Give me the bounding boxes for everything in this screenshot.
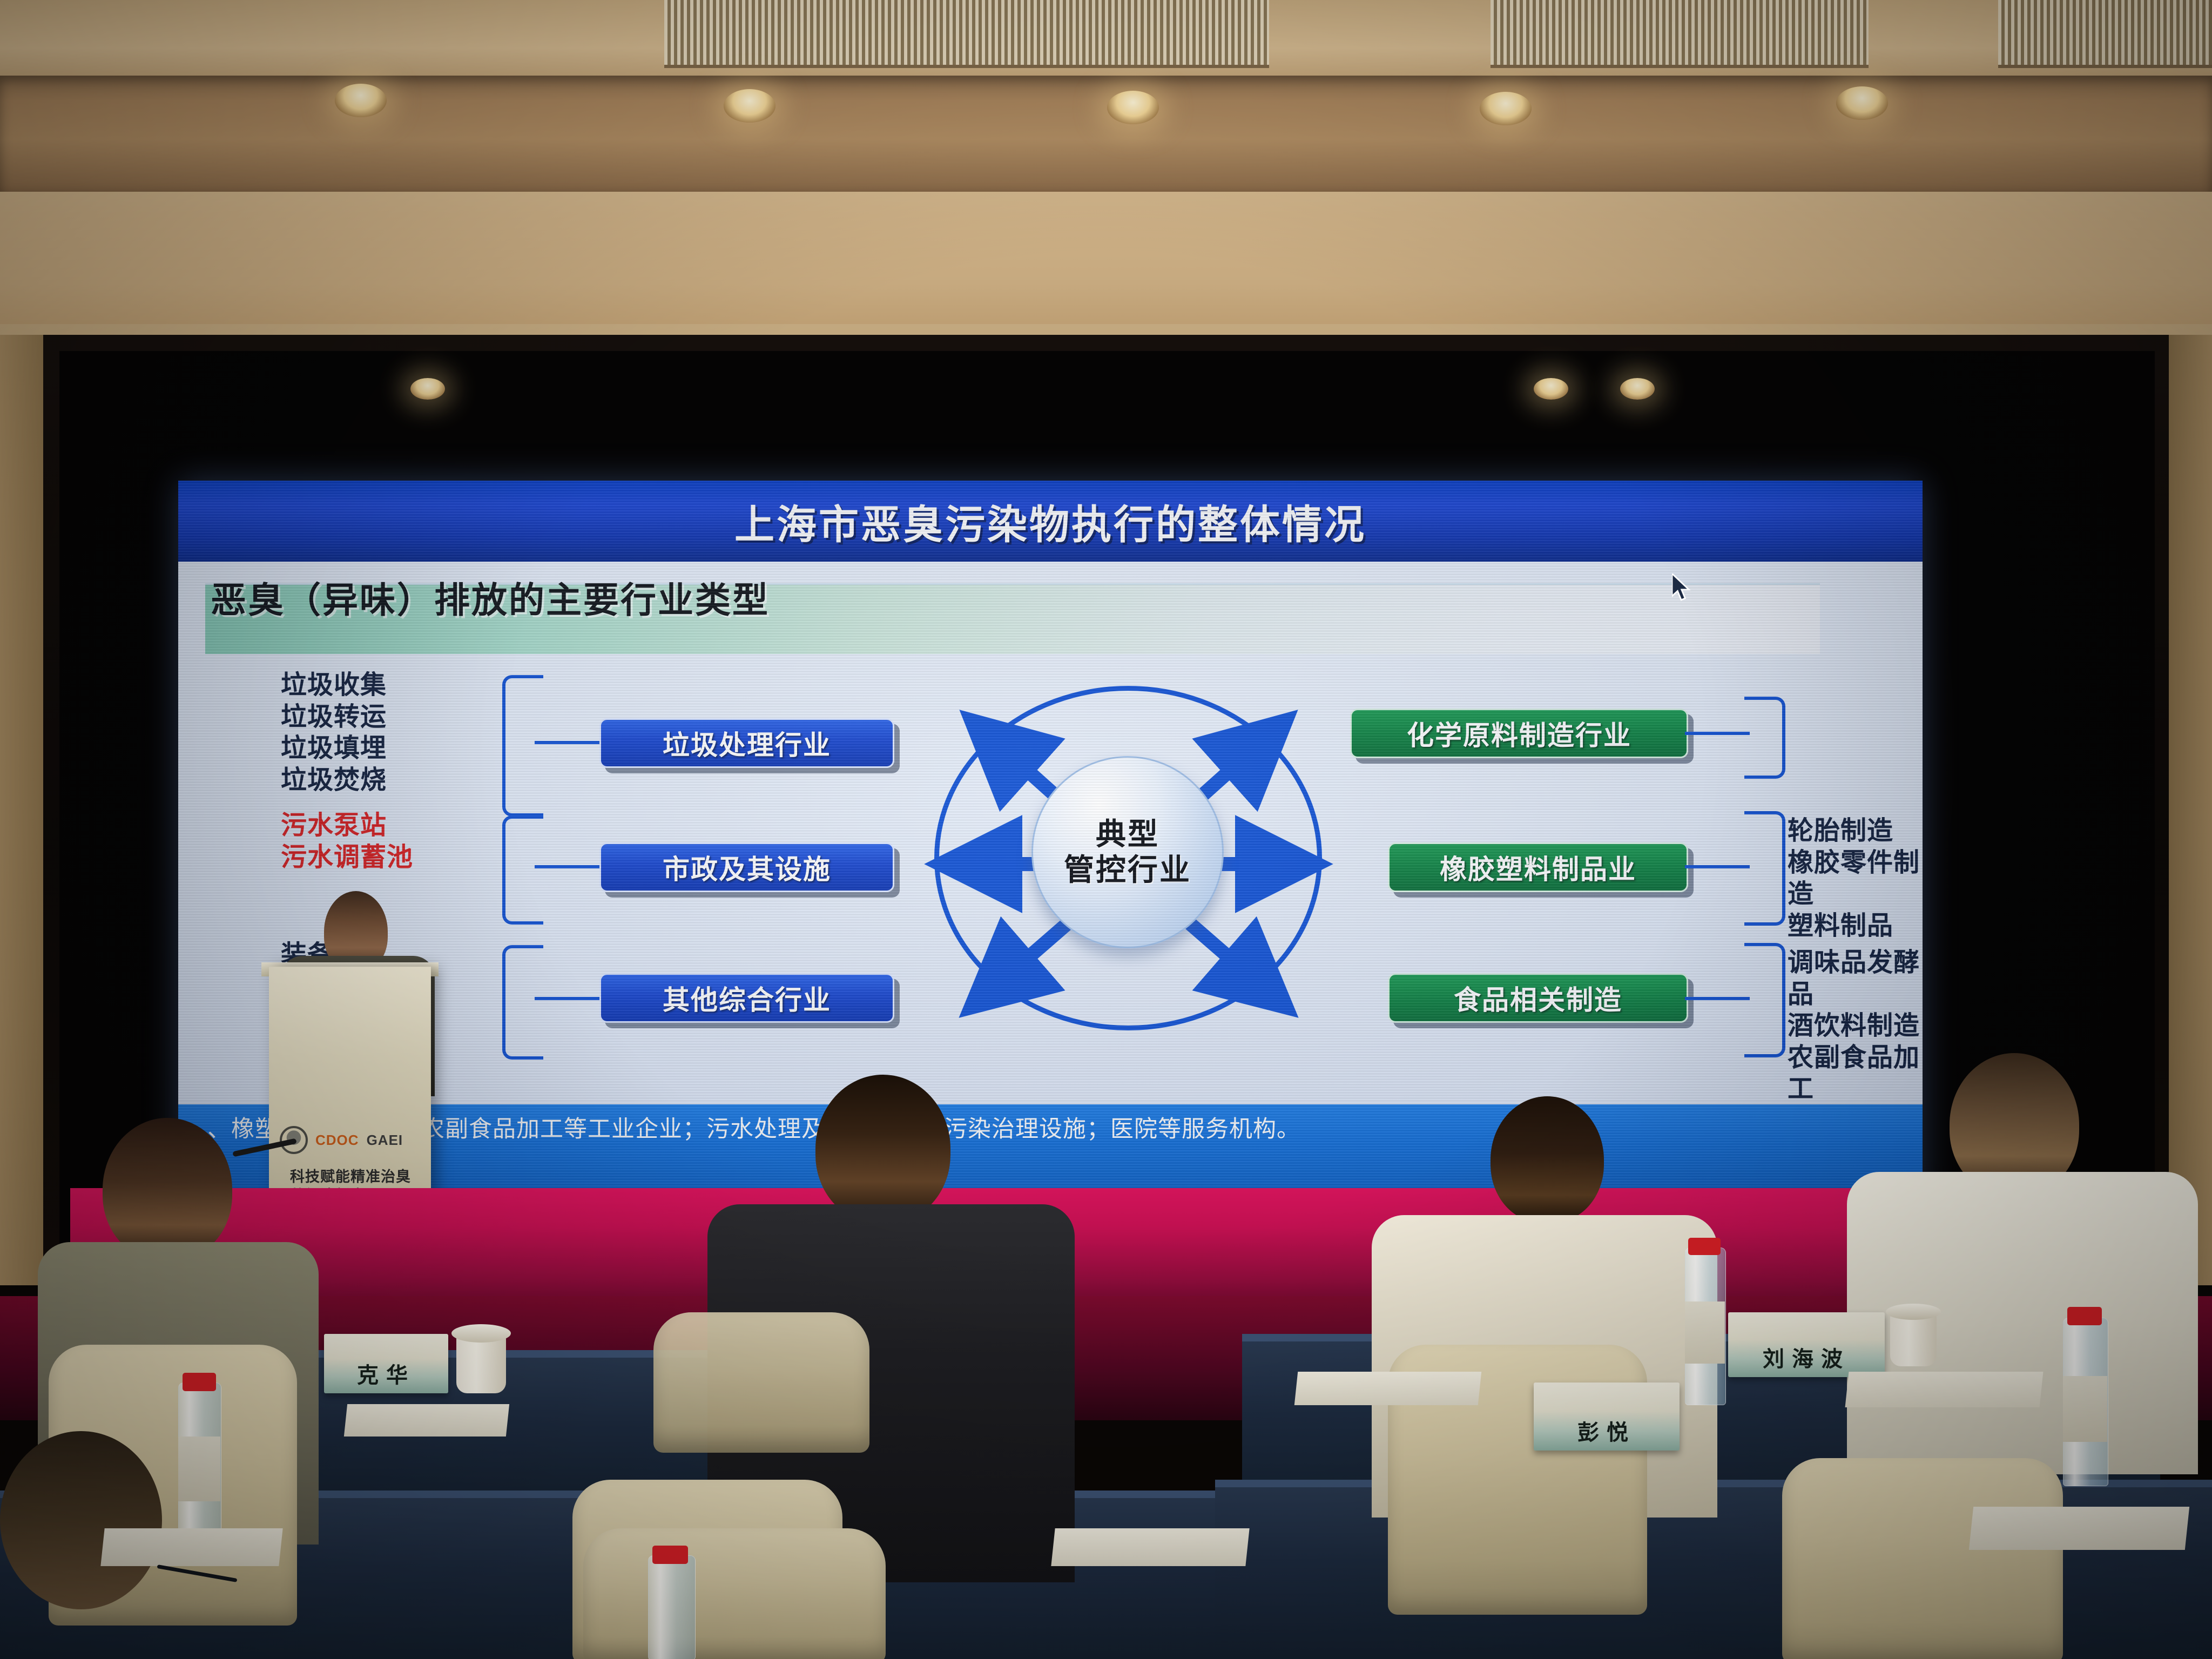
brace-stub <box>1685 865 1750 868</box>
conference-hall-photo: 上海市恶臭污染物执行的整体情况 恶臭（异味）排放的主要行业类型 垃圾收集 垃圾转… <box>0 0 2212 1659</box>
bottle-label <box>2063 1376 2107 1442</box>
slide-subtitle: 恶臭（异味）排放的主要行业类型 <box>211 571 770 623</box>
bottle-cap <box>1688 1238 1721 1255</box>
left-source-group-2: 污水泵站 污水调蓄池 <box>281 810 413 873</box>
brace-stub <box>535 741 599 744</box>
brace-stub <box>535 997 599 1000</box>
right-detail-group-2: 轮胎制造 橡胶零件制造 塑料制品 <box>1788 815 1923 942</box>
brace-right-1 <box>1744 697 1785 779</box>
brace-right-3 <box>1744 943 1785 1057</box>
ceiling-air-grille <box>1998 0 2212 68</box>
podium-slogan-line1: 科技赋能精准治臭 <box>278 1168 423 1186</box>
slide-title-bar: 上海市恶臭污染物执行的整体情况 <box>178 481 1923 562</box>
tea-cup <box>1890 1312 1937 1366</box>
ceiling-air-grille <box>1491 0 1869 68</box>
chair <box>653 1312 869 1453</box>
name-card-2: 彭悦 <box>1534 1382 1680 1451</box>
document-sheet <box>1294 1372 1482 1405</box>
center-node-line1: 典型 <box>1096 817 1159 852</box>
downlight-icon <box>724 89 775 123</box>
category-box-rubber-plastic[interactable]: 橡胶塑料制品业 <box>1388 842 1688 892</box>
brace-stub <box>535 865 599 868</box>
right-detail-group-3: 调味品发酵品 酒饮料制造 农副食品加工 <box>1788 947 1923 1105</box>
center-node[interactable]: 典型 管控行业 <box>1031 756 1224 948</box>
downlight-icon <box>1620 378 1655 400</box>
left-source-group-1: 垃圾收集 垃圾转运 垃圾填埋 垃圾焚烧 <box>281 670 387 796</box>
bottle-cap <box>2067 1307 2102 1325</box>
document-sheet <box>1051 1528 1249 1566</box>
downlight-icon <box>1534 378 1568 400</box>
podium-logo-text-1: CDOC <box>315 1132 359 1149</box>
ceiling-air-grille <box>664 0 1269 68</box>
name-card-1-text: 克华 <box>357 1358 415 1389</box>
slide-body: 恶臭（异味）排放的主要行业类型 垃圾收集 垃圾转运 垃圾填埋 垃圾焚烧 污水泵站… <box>178 562 1923 1199</box>
chair <box>1782 1458 2063 1659</box>
water-bottle <box>648 1555 696 1659</box>
downlight-icon <box>410 378 445 400</box>
tea-cup-lid <box>1886 1304 1941 1320</box>
downlight-icon <box>1480 92 1532 125</box>
downlight-icon <box>1107 91 1159 124</box>
category-box-municipal-facilities[interactable]: 市政及其设施 <box>599 842 894 892</box>
downlight-icon <box>1836 86 1888 120</box>
brace-left-3 <box>502 945 543 1060</box>
center-node-line2: 管控行业 <box>1064 852 1191 888</box>
brace-left-2 <box>502 815 543 925</box>
category-box-other-industries[interactable]: 其他综合行业 <box>599 973 894 1023</box>
tea-cup <box>456 1334 506 1393</box>
category-box-waste-treatment[interactable]: 垃圾处理行业 <box>599 718 894 768</box>
document-sheet <box>100 1528 282 1566</box>
downlight-icon <box>335 84 387 117</box>
category-box-chemical-materials[interactable]: 化学原料制造行业 <box>1350 709 1688 758</box>
name-card-3: 刘海波 <box>1728 1312 1885 1377</box>
slide-title: 上海市恶臭污染物执行的整体情况 <box>734 493 1366 550</box>
brace-right-2 <box>1744 811 1785 926</box>
name-card-1: 克华 <box>324 1334 448 1393</box>
bottle-cap <box>183 1373 216 1391</box>
category-box-food-manufacturing[interactable]: 食品相关制造 <box>1388 973 1688 1023</box>
brace-left-1 <box>502 675 543 817</box>
attendee-foreground-left-head <box>0 1431 162 1609</box>
bottle-label <box>1685 1301 1725 1364</box>
led-presentation-screen: 上海市恶臭污染物执行的整体情况 恶臭（异味）排放的主要行业类型 垃圾收集 垃圾转… <box>178 481 1923 1199</box>
tea-cup-lid <box>451 1324 511 1343</box>
document-sheet <box>344 1404 509 1437</box>
chair <box>583 1528 886 1659</box>
bottle-cap <box>652 1546 688 1564</box>
slide-footer-band: 、橡塑、食品制造、农副食品加工等工业企业；污水处理及垃圾处理等污染治理设施；医院… <box>178 1104 1923 1199</box>
brace-stub <box>1685 732 1750 735</box>
slide-footer-text: 、橡塑、食品制造、农副食品加工等工业企业；污水处理及垃圾处理等污染治理设施；医院… <box>207 1113 1893 1146</box>
podium-logos: CDOC GAEI <box>280 1129 420 1151</box>
podium-logo-text-2: GAEI <box>367 1132 403 1149</box>
bottle-label <box>178 1437 220 1501</box>
document-sheet <box>1969 1507 2189 1550</box>
document-sheet <box>1845 1372 2044 1407</box>
name-card-2-text: 彭悦 <box>1577 1415 1636 1446</box>
brace-stub <box>1685 997 1750 1000</box>
name-card-3-text: 刘海波 <box>1763 1341 1850 1373</box>
